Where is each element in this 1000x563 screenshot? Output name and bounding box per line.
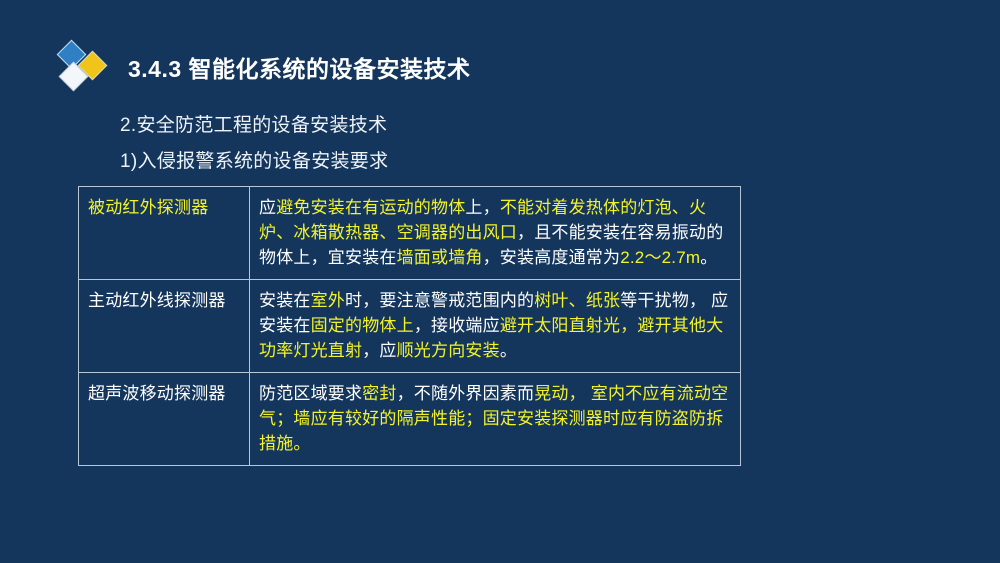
requirement-text-segment: 顺光方向安装 bbox=[397, 341, 500, 360]
requirement-text-segment: 。 bbox=[700, 248, 717, 267]
requirement-text-segment: ，不随外界因素而 bbox=[397, 384, 535, 403]
detector-name-text: 被动红外探测器 bbox=[88, 198, 208, 217]
slide-canvas: 3.4.3 智能化系统的设备安装技术 2.安全防范工程的设备安装技术 1)入侵报… bbox=[0, 0, 1000, 563]
detector-requirements-table: 被动红外探测器 应避免安装在有运动的物体上，不能对着发热体的灯泡、火炉、冰箱散热… bbox=[78, 186, 741, 466]
requirement-text-segment: 防范区域要求 bbox=[259, 384, 362, 403]
page-title: 3.4.3 智能化系统的设备安装技术 bbox=[128, 50, 471, 84]
requirement-text-segment: ，接收端应 bbox=[414, 316, 500, 335]
requirement-text-segment: 。 bbox=[500, 341, 517, 360]
subheading-2: 1)入侵报警系统的设备安装要求 bbox=[120, 146, 388, 173]
requirement-text-segment: 应 bbox=[259, 198, 276, 217]
table-cell-detector-name: 主动红外线探测器 bbox=[79, 280, 250, 373]
table-body: 被动红外探测器 应避免安装在有运动的物体上，不能对着发热体的灯泡、火炉、冰箱散热… bbox=[79, 187, 741, 466]
requirement-text-segment: 安装在 bbox=[259, 291, 311, 310]
requirement-text-segment: 密封 bbox=[362, 384, 396, 403]
three-diamonds-logo-icon bbox=[58, 41, 114, 93]
table-cell-detector-name: 超声波移动探测器 bbox=[79, 373, 250, 466]
requirement-text-segment: 树叶、纸张 bbox=[534, 291, 620, 310]
requirement-text-segment: 避免安装在有运动的物体 bbox=[276, 198, 465, 217]
requirement-text-segment: ，安装高度通常为 bbox=[483, 248, 621, 267]
detector-name-text: 主动红外线探测器 bbox=[88, 291, 226, 310]
table-cell-requirement: 应避免安装在有运动的物体上，不能对着发热体的灯泡、火炉、冰箱散热器、空调器的出风… bbox=[250, 187, 741, 280]
requirement-text-segment: 上， bbox=[465, 198, 499, 217]
slide-title-row: 3.4.3 智能化系统的设备安装技术 bbox=[58, 41, 471, 93]
detector-name-text: 超声波移动探测器 bbox=[88, 384, 226, 403]
requirement-text-segment: 时，要注意警戒范围内的 bbox=[345, 291, 534, 310]
detector-requirements-table-wrap: 被动红外探测器 应避免安装在有运动的物体上，不能对着发热体的灯泡、火炉、冰箱散热… bbox=[78, 186, 702, 466]
subheading-1: 2.安全防范工程的设备安装技术 bbox=[120, 110, 387, 137]
table-cell-requirement: 安装在室外时，要注意警戒范围内的树叶、纸张等干扰物， 应安装在固定的物体上，接收… bbox=[250, 280, 741, 373]
table-cell-requirement: 防范区域要求密封，不随外界因素而晃动， 室内不应有流动空气；墙应有较好的隔声性能… bbox=[250, 373, 741, 466]
requirement-text-segment: 墙面或墙角 bbox=[397, 248, 483, 267]
requirement-text-segment: 固定的物体上 bbox=[311, 316, 414, 335]
table-row: 主动红外线探测器 安装在室外时，要注意警戒范围内的树叶、纸张等干扰物， 应安装在… bbox=[79, 280, 741, 373]
requirement-text-segment: 室外 bbox=[311, 291, 345, 310]
requirement-text-segment: 2.2～2.7m bbox=[620, 248, 700, 267]
table-row: 超声波移动探测器 防范区域要求密封，不随外界因素而晃动， 室内不应有流动空气；墙… bbox=[79, 373, 741, 466]
requirement-text-segment: ，应 bbox=[362, 341, 396, 360]
table-cell-detector-name: 被动红外探测器 bbox=[79, 187, 250, 280]
table-row: 被动红外探测器 应避免安装在有运动的物体上，不能对着发热体的灯泡、火炉、冰箱散热… bbox=[79, 187, 741, 280]
